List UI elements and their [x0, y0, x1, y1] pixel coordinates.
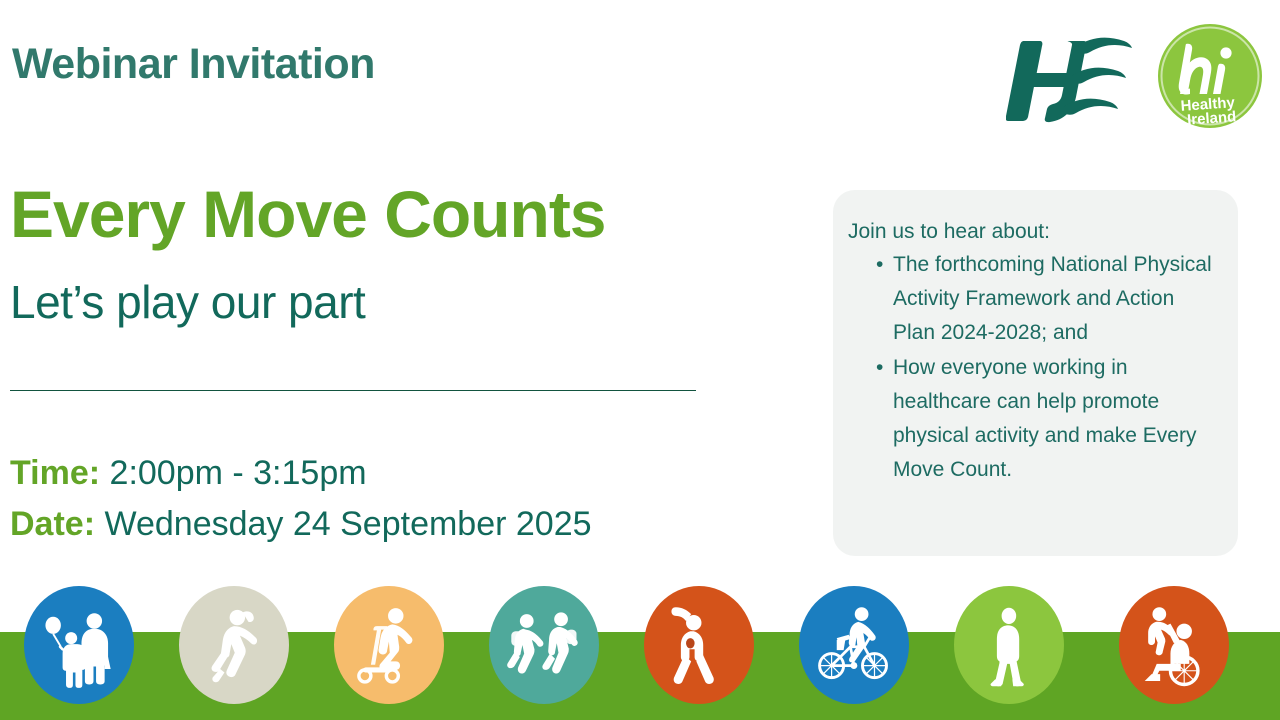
date-row: Date: Wednesday 24 September 2025 — [10, 499, 592, 550]
activity-icon-row — [0, 586, 1280, 720]
running-icon — [179, 586, 289, 704]
scooter-icon — [334, 586, 444, 704]
logo-row: Healthy Ireland — [1006, 22, 1264, 130]
hero-title: Every Move Counts — [10, 176, 606, 252]
list-item: How everyone working in healthcare can h… — [848, 351, 1212, 487]
stretching-icon — [644, 586, 754, 704]
svg-text:Ireland: Ireland — [1187, 108, 1237, 128]
page-title: Webinar Invitation — [12, 40, 375, 89]
hse-logo — [1006, 29, 1134, 124]
list-item: The forthcoming National Physical Activi… — [848, 248, 1212, 350]
time-row: Time: 2:00pm - 3:15pm — [10, 448, 592, 499]
healthy-ireland-logo: Healthy Ireland — [1156, 22, 1264, 130]
event-details: Time: 2:00pm - 3:15pm Date: Wednesday 24… — [10, 448, 592, 550]
time-label: Time: — [10, 454, 100, 492]
children-running-icon — [489, 586, 599, 704]
hero-subtitle: Let’s play our part — [10, 275, 365, 329]
divider — [10, 390, 696, 391]
info-panel-heading: Join us to hear about: — [848, 220, 1212, 244]
info-panel: Join us to hear about: The forthcoming N… — [833, 190, 1238, 556]
cycling-icon — [799, 586, 909, 704]
wheelchair-basketball-icon — [1119, 586, 1229, 704]
walking-icon — [954, 586, 1064, 704]
family-walking-icon — [24, 586, 134, 704]
date-label: Date: — [10, 505, 95, 543]
info-panel-list: The forthcoming National Physical Activi… — [848, 248, 1212, 487]
date-value: Wednesday 24 September 2025 — [104, 505, 591, 543]
time-value: 2:00pm - 3:15pm — [110, 454, 367, 492]
